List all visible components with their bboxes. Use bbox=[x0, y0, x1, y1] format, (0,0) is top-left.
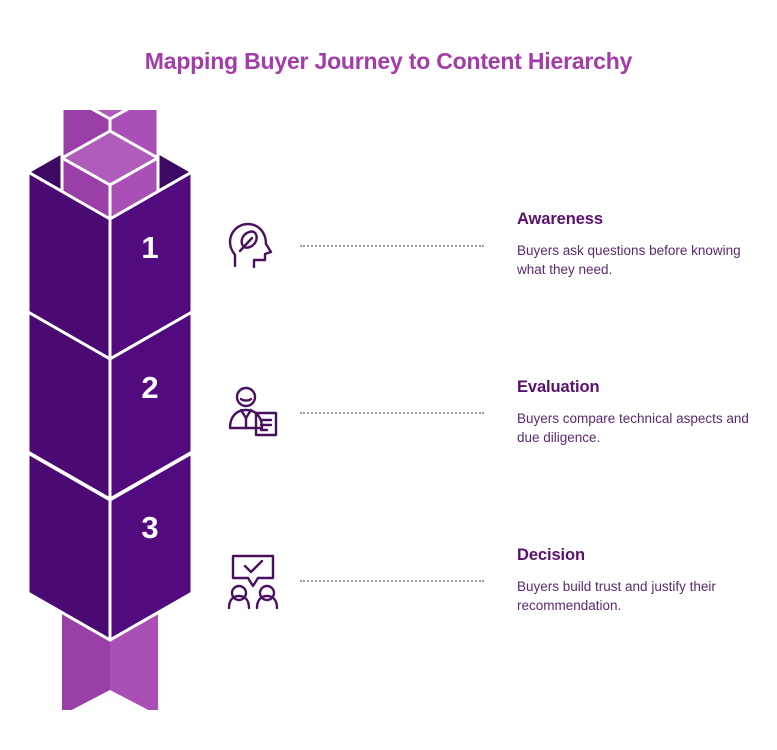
step-row-3: Decision Buyers build trust and justify … bbox=[0, 0, 777, 1]
cube-stack-svg: 1 2 3 bbox=[0, 110, 230, 710]
page-title: Mapping Buyer Journey to Content Hierarc… bbox=[0, 48, 777, 75]
cube-stack-graphic: 1 2 3 bbox=[0, 110, 230, 710]
step-body-1: Buyers ask questions before knowing what… bbox=[517, 241, 769, 279]
person-document-icon bbox=[222, 382, 284, 444]
step-number-2: 2 bbox=[141, 370, 158, 405]
connector-dots-2 bbox=[300, 412, 484, 414]
step-body-2: Buyers compare technical aspects and due… bbox=[517, 409, 769, 447]
step-heading-2: Evaluation bbox=[517, 378, 769, 397]
step-text-1: Awareness Buyers ask questions before kn… bbox=[517, 210, 769, 279]
step-heading-3: Decision bbox=[517, 546, 769, 565]
step-number-3: 3 bbox=[141, 510, 158, 545]
speech-check-people-icon bbox=[222, 550, 284, 612]
step-text-3: Decision Buyers build trust and justify … bbox=[517, 546, 769, 615]
step-text-2: Evaluation Buyers compare technical aspe… bbox=[517, 378, 769, 447]
head-leaf-icon bbox=[222, 214, 284, 276]
connector-dots-3 bbox=[300, 580, 484, 582]
connector-dots-1 bbox=[300, 245, 484, 247]
step-body-3: Buyers build trust and justify their rec… bbox=[517, 577, 769, 615]
step-number-1: 1 bbox=[141, 230, 158, 265]
step-heading-1: Awareness bbox=[517, 210, 769, 229]
